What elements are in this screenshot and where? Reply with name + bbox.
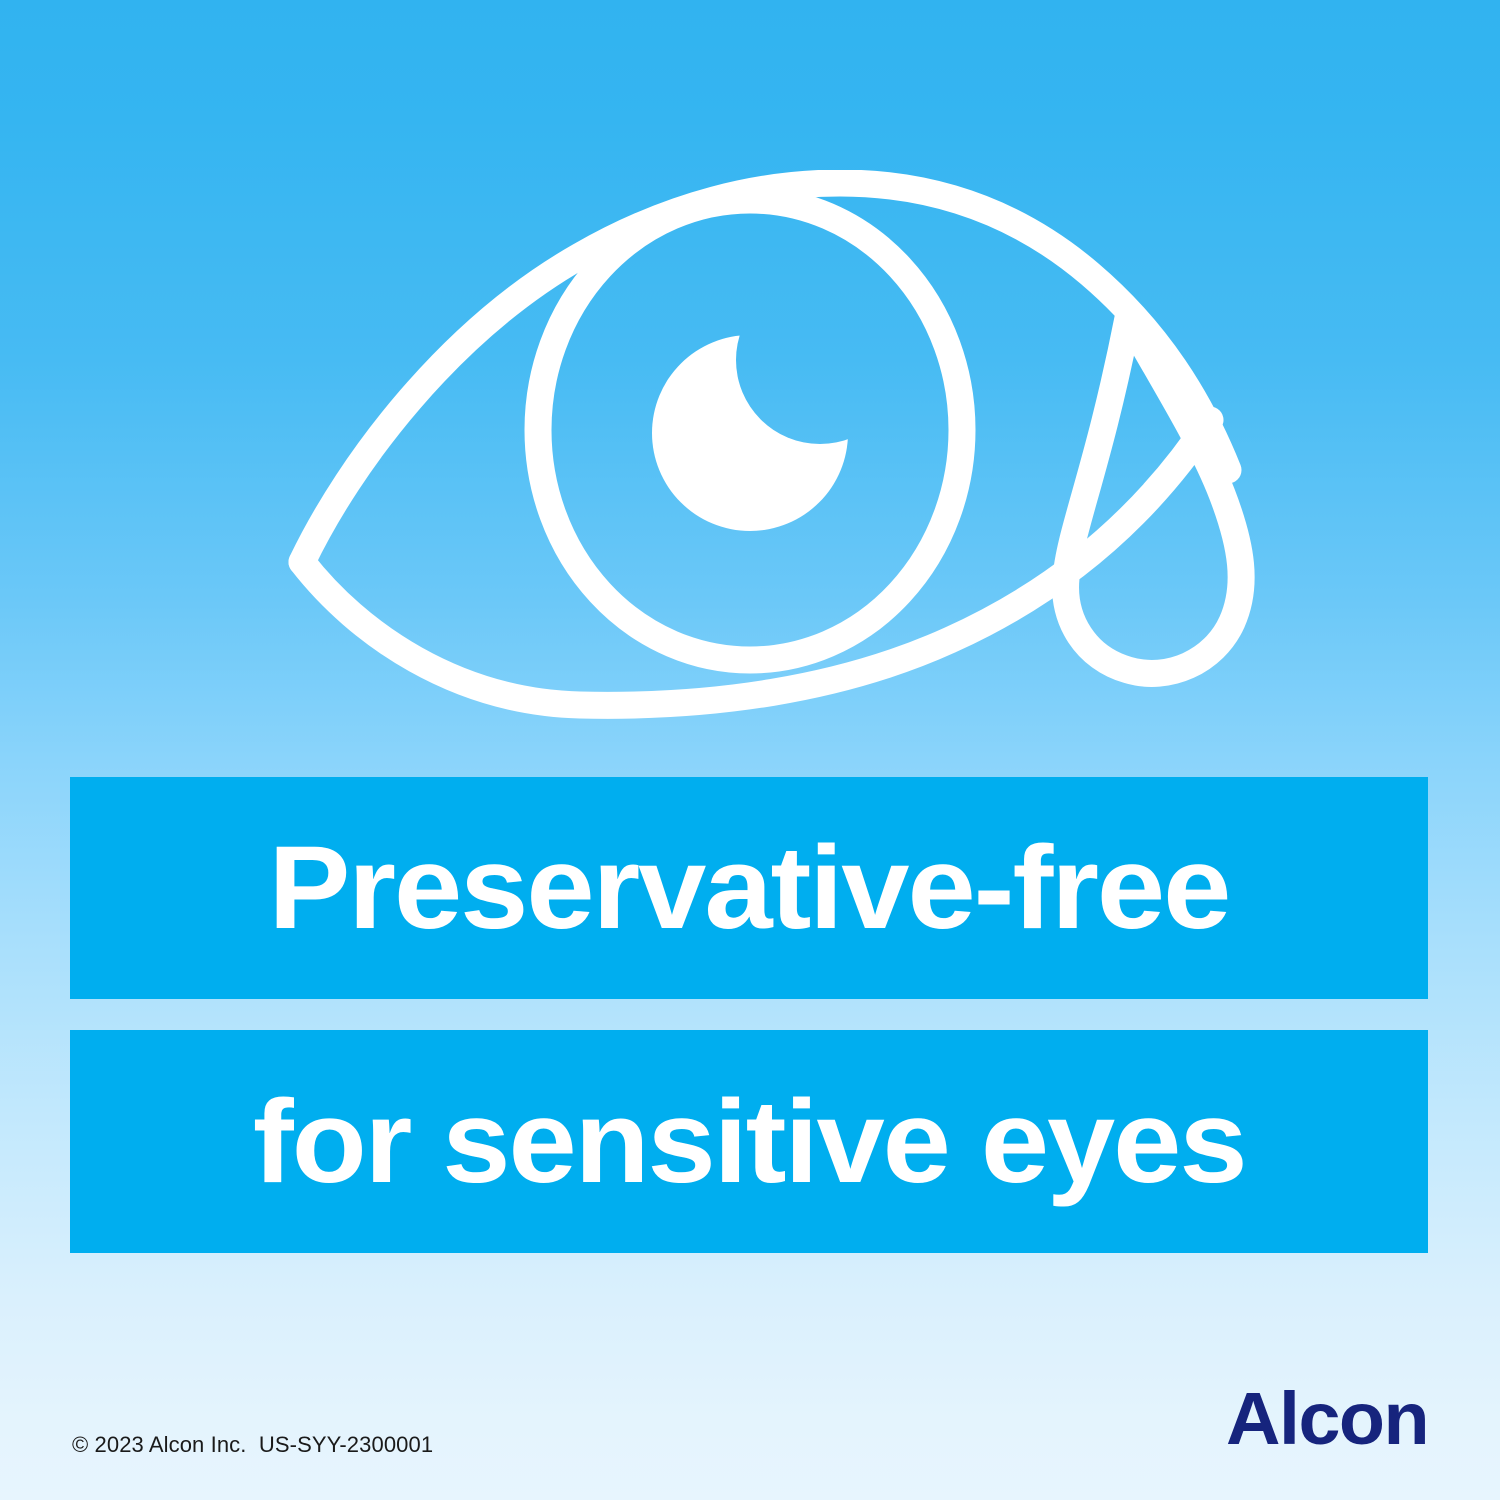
eye-with-teardrop-icon [280, 170, 1270, 720]
eye-pupil [610, 290, 900, 580]
claim-banner-sensitive-eyes: for sensitive eyes [70, 1030, 1428, 1253]
claim-banner-label: Preservative-free [269, 829, 1230, 947]
product-claim-graphic: Preservative-free for sensitive eyes Alc… [0, 0, 1500, 1500]
claim-banner-label: for sensitive eyes [253, 1083, 1246, 1201]
alcon-logo: Alcon [1226, 1382, 1428, 1456]
copyright-notice: © 2023 Alcon Inc. US-SYY-2300001 [72, 1432, 433, 1458]
claim-banner-preservative-free: Preservative-free [70, 777, 1428, 999]
eye-icon-svg [280, 170, 1270, 720]
